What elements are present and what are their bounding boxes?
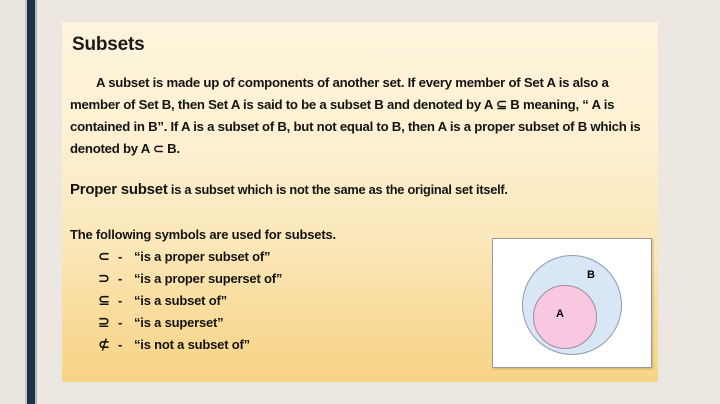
venn-diagram-stage: B A xyxy=(493,239,651,367)
superset-symbol-icon: ⊇ xyxy=(70,315,118,331)
not-subset-symbol-icon: ⊄ xyxy=(70,337,118,353)
list-item: ⊃ - “is a proper superset of” xyxy=(70,271,440,293)
list-item: ⊆ - “is a subset of” xyxy=(70,293,440,315)
venn-circle-a xyxy=(533,285,597,349)
left-accent-bar xyxy=(27,0,35,404)
proper-subset-term: Proper subset xyxy=(70,181,168,198)
symbol-separator: - xyxy=(118,315,134,330)
proper-subset-paragraph: Proper subset is a subset which is not t… xyxy=(70,181,650,198)
symbols-intro-text: The following symbols are used for subse… xyxy=(70,227,336,242)
page-title: Subsets xyxy=(72,34,145,56)
symbol-meaning: “is a subset of” xyxy=(134,293,227,308)
definition-lead-word: A xyxy=(96,75,105,90)
definition-line1-rest: is made up of components of another set.… xyxy=(149,75,555,90)
symbol-separator: - xyxy=(118,271,134,286)
symbol-meaning: “is a superset” xyxy=(134,315,224,330)
symbols-list: ⊂ - “is a proper subset of” ⊃ - “is a pr… xyxy=(70,249,440,359)
proper-subset-description: is a subset which is not the same as the… xyxy=(168,182,508,197)
symbol-separator: - xyxy=(118,337,134,352)
venn-label-b: B xyxy=(587,269,595,281)
symbol-meaning: “is a proper superset of” xyxy=(134,271,282,286)
proper-subset-symbol-icon: ⊂ xyxy=(70,249,118,265)
list-item: ⊂ - “is a proper subset of” xyxy=(70,249,440,271)
venn-label-a: A xyxy=(556,308,564,320)
left-edge-strip xyxy=(0,0,26,404)
definition-paragraph: A subset is made up of components of ano… xyxy=(70,72,650,160)
slide-root: Subsets A subset is made up of component… xyxy=(0,0,720,404)
list-item: ⊇ - “is a superset” xyxy=(70,315,440,337)
symbol-separator: - xyxy=(118,293,134,308)
list-item: ⊄ - “is not a subset of” xyxy=(70,337,440,359)
left-accent-bar-shadow xyxy=(35,0,37,404)
subset-symbol-icon: ⊆ xyxy=(70,293,118,309)
definition-bold-term: subset xyxy=(108,75,149,90)
symbol-meaning: “is not a subset of” xyxy=(134,337,250,352)
symbol-separator: - xyxy=(118,249,134,264)
proper-superset-symbol-icon: ⊃ xyxy=(70,271,118,287)
symbol-meaning: “is a proper subset of” xyxy=(134,249,270,264)
content-card: Subsets A subset is made up of component… xyxy=(62,22,658,382)
venn-diagram-panel: B A xyxy=(492,238,652,368)
